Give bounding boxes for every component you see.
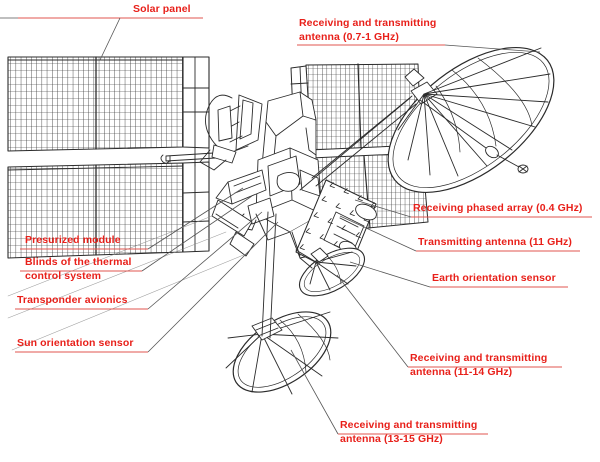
callout-label-line: Transmitting antenna (11 GHz) [418,236,572,250]
callout-label-transmitting-antenna-11ghz: Transmitting antenna (11 GHz) [418,236,572,250]
callout-label-solar-panel: Solar panel [133,3,191,17]
callout-label-line: Receiving and transmitting [340,419,477,433]
callout-label-receiving-transmitting-antenna-07-1ghz: Receiving and transmittingantenna (0.7-1… [299,17,436,44]
callout-label-line: Receiving and transmitting [299,17,436,31]
satellite-line-drawing [0,0,600,462]
callout-label-line: antenna (0.7-1 GHz) [299,31,436,45]
callout-label-line: Receiving and transmitting [410,352,547,366]
callout-label-line: Transponder avionics [17,294,128,308]
callout-label-transponder-avionics: Transponder avionics [17,294,128,308]
callout-label-line: Sun orientation sensor [17,337,134,351]
callout-label-line: Earth orientation sensor [432,272,556,286]
satellite-diagram-page: Solar panelReceiving and transmittingant… [0,0,600,462]
callout-label-line: antenna (11-14 GHz) [410,366,547,380]
callout-label-receiving-transmitting-antenna-11-14ghz: Receiving and transmittingantenna (11-14… [410,352,547,379]
callout-label-line: Receiving phased array (0.4 GHz) [413,202,583,216]
callout-label-receiving-phased-array-04ghz: Receiving phased array (0.4 GHz) [413,202,583,216]
callout-label-line: antenna (13-15 GHz) [340,433,477,447]
callout-label-blinds-thermal-control: Blinds of the thermalcontrol system [25,256,132,283]
callout-label-line: Solar panel [133,3,191,17]
callout-label-line: Presurized module [25,234,121,248]
callout-label-earth-orientation-sensor: Earth orientation sensor [432,272,556,286]
callout-label-receiving-transmitting-antenna-13-15ghz: Receiving and transmittingantenna (13-15… [340,419,477,446]
solar-panel-upper-left [8,57,209,151]
callout-label-sun-orientation-sensor: Sun orientation sensor [17,337,134,351]
callout-label-presurized-module: Presurized module [25,234,121,248]
callout-label-line: control system [25,270,132,284]
callout-label-line: Blinds of the thermal [25,256,132,270]
